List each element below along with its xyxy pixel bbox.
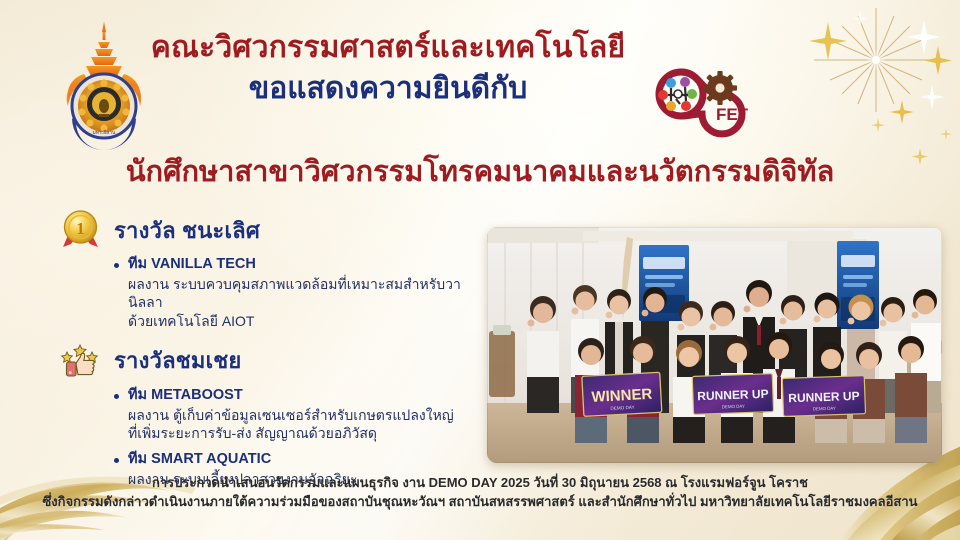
- team-name: ทีม SMART AQUATIC: [128, 450, 478, 470]
- congratulations-poster: มทร.อีสาน คณะวิศวกรรมศาสตร์และเทคโนโลยี …: [0, 0, 960, 540]
- svg-text:มทร.อีสาน: มทร.อีสาน: [93, 129, 117, 136]
- award-title: รางวัลชมเชย: [114, 343, 242, 378]
- banner-runnerup-1-text: RUNNER UP: [697, 387, 769, 403]
- gold-medal-svg: 1: [58, 207, 104, 253]
- group-photo-demo-day: WINNER DEMO DAY RUNNER UP DEMO DAY RUNNE…: [487, 227, 942, 463]
- title-line-1: คณะวิศวกรรมศาสตร์และเทคโนโลยี: [108, 30, 668, 65]
- title-line-2: ขอแสดงความยินดีกับ: [108, 70, 668, 108]
- title-line-3: นักศึกษาสาขาวิศวกรรมโทรคมนาคมและนวัตกรรม…: [0, 148, 960, 194]
- banner-winner-text: WINNER: [591, 386, 653, 406]
- header-titles: คณะวิศวกรรมศาสตร์และเทคโนโลยี ขอแสดงความ…: [108, 30, 668, 108]
- awards-list: 1 รางวัล ชนะเลิศ ทีม VANILLA TECH ผลงาน …: [58, 207, 478, 497]
- team-list: ทีม VANILLA TECH ผลงาน ระบบควบคุมสภาพแวด…: [58, 255, 478, 330]
- banner-runnerup-2-text: RUNNER UP: [788, 389, 860, 405]
- poster-header: มทร.อีสาน คณะวิศวกรรมศาสตร์และเทคโนโลยี …: [0, 0, 960, 205]
- award-heading: รางวัลชมเชย: [58, 338, 478, 384]
- footer-line-2: ซึ่งกิจกรรมดังกล่าวดำเนินงานภายใต้ความร่…: [0, 493, 960, 512]
- gold-medal-icon: 1: [58, 207, 104, 253]
- award-heading: 1 รางวัล ชนะเลิศ: [58, 207, 478, 253]
- thumbs-up-stars-svg: [58, 338, 104, 384]
- thumbs-up-stars-icon: [58, 338, 104, 384]
- group-photo-svg: WINNER DEMO DAY RUNNER UP DEMO DAY RUNNE…: [487, 227, 942, 463]
- fet-logo-text: FET: [716, 105, 749, 124]
- team-description: ผลงาน ตู้เก็บค่าข้อมูลเซนเซอร์สำหรับเกษต…: [128, 406, 478, 443]
- team-name: ทีม VANILLA TECH: [128, 255, 478, 275]
- footer-line-1: การประกวดนำเสนอนวัตกรรมและแผนธุรกิจ งาน …: [0, 474, 960, 493]
- fet-faculty-logo: FET: [640, 52, 762, 152]
- list-item: ทีม METABOOST ผลงาน ตู้เก็บค่าข้อมูลเซนเ…: [114, 386, 478, 443]
- fet-logo-svg: FET: [640, 52, 762, 152]
- list-item: ทีม VANILLA TECH ผลงาน ระบบควบคุมสภาพแวด…: [114, 255, 478, 330]
- poster-footer: การประกวดนำเสนอนวัตกรรมและแผนธุรกิจ งาน …: [0, 474, 960, 512]
- svg-text:DEMO DAY: DEMO DAY: [813, 406, 836, 412]
- team-description: ผลงาน ระบบควบคุมสภาพแวดล้อมที่เหมาะสมสำห…: [128, 275, 478, 330]
- team-name: ทีม METABOOST: [128, 386, 478, 406]
- award-title: รางวัล ชนะเลิศ: [114, 213, 260, 248]
- award-block: 1 รางวัล ชนะเลิศ ทีม VANILLA TECH ผลงาน …: [58, 207, 478, 330]
- svg-text:1: 1: [76, 219, 85, 238]
- svg-text:DEMO DAY: DEMO DAY: [722, 404, 745, 410]
- award-block: รางวัลชมเชย ทีม METABOOST ผลงาน ตู้เก็บค…: [58, 338, 478, 489]
